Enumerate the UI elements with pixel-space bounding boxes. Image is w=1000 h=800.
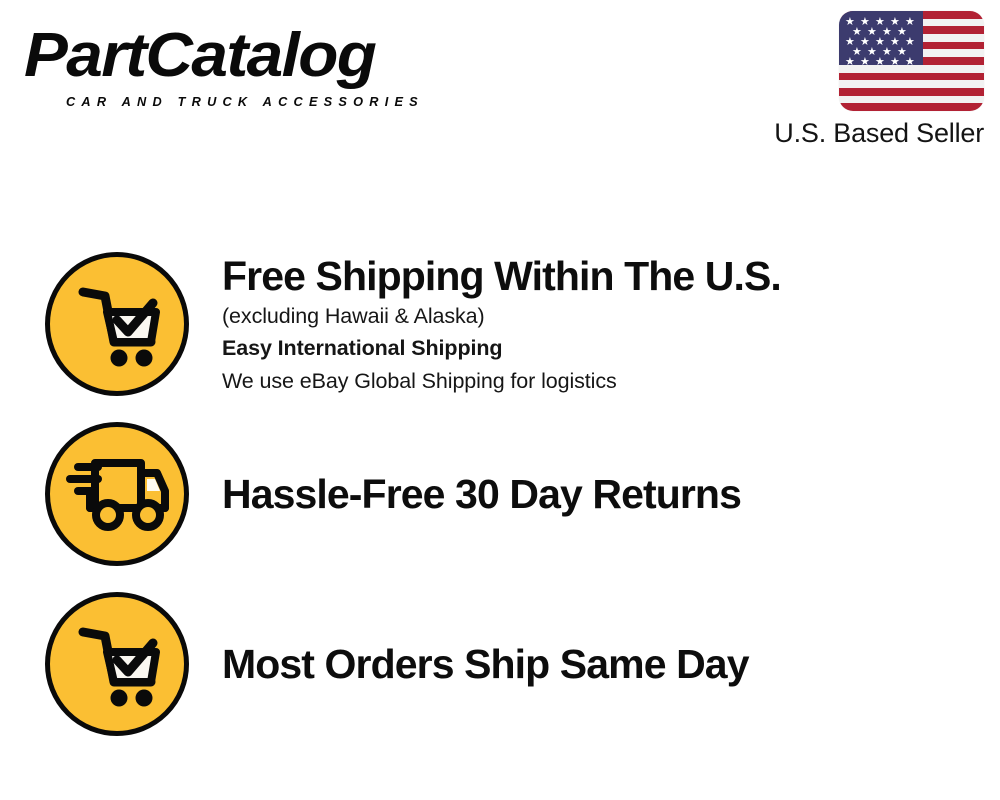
page-header: PartCatalog CAR AND TRUCK ACCESSORIES ★ … bbox=[0, 0, 1000, 170]
feature-text: Hassle-Free 30 Day Returns bbox=[222, 470, 1000, 518]
flag-stripe bbox=[839, 88, 984, 96]
flag-canton: ★ ★ ★ ★ ★ ★ ★ ★ ★ ★ ★ ★ ★ ★ ★ ★ ★ ★ ★ ★ … bbox=[839, 11, 923, 65]
feature-subline: (excluding Hawaii & Alaska) bbox=[222, 300, 980, 332]
feature-text: Most Orders Ship Same Day bbox=[222, 640, 1000, 688]
feature-row: Hassle-Free 30 Day Returns bbox=[0, 420, 1000, 568]
feature-subline: We use eBay Global Shipping for logistic… bbox=[222, 365, 980, 397]
us-based-seller-label: U.S. Based Seller bbox=[774, 118, 984, 149]
us-flag-icon: ★ ★ ★ ★ ★ ★ ★ ★ ★ ★ ★ ★ ★ ★ ★ ★ ★ ★ ★ ★ … bbox=[839, 11, 984, 111]
feature-title: Free Shipping Within The U.S. bbox=[222, 252, 980, 300]
delivery-truck-icon bbox=[45, 422, 189, 566]
flag-stripe bbox=[839, 80, 984, 88]
feature-subline: Easy International Shipping bbox=[222, 332, 980, 365]
brand-logo[interactable]: PartCatalog CAR AND TRUCK ACCESSORIES bbox=[24, 22, 494, 117]
shopping-cart-check-icon bbox=[45, 252, 189, 396]
feature-row: Free Shipping Within The U.S. (excluding… bbox=[0, 250, 1000, 398]
brand-wordmark: PartCatalog bbox=[24, 22, 375, 90]
feature-row: Most Orders Ship Same Day bbox=[0, 590, 1000, 738]
feature-title: Hassle-Free 30 Day Returns bbox=[222, 470, 980, 518]
feature-text: Free Shipping Within The U.S. (excluding… bbox=[222, 252, 1000, 397]
shopping-cart-check-icon bbox=[45, 592, 189, 736]
feature-title: Most Orders Ship Same Day bbox=[222, 640, 980, 688]
flag-stripe bbox=[839, 96, 984, 104]
flag-stripe bbox=[839, 73, 984, 81]
brand-tagline: CAR AND TRUCK ACCESSORIES bbox=[66, 95, 424, 109]
flag-stripe bbox=[839, 103, 984, 111]
